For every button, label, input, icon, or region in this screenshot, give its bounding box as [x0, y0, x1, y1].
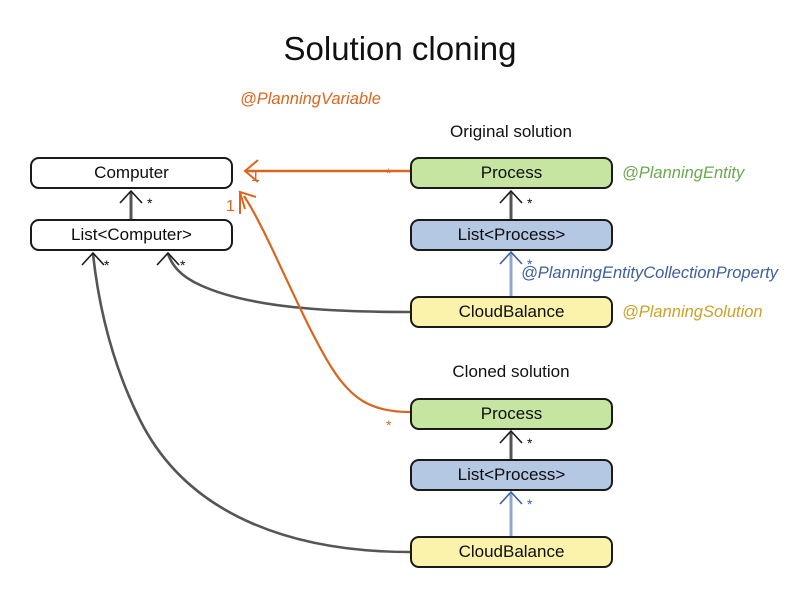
- multiplicity-cloned-cloudbalance-to-listprocess: *: [527, 497, 532, 511]
- class-box-original-process[interactable]: Process: [410, 157, 613, 189]
- multiplicity-listcomputer-left-star: *: [104, 258, 109, 272]
- class-box-list-computer[interactable]: List<Computer>: [30, 219, 233, 251]
- annotation-planning-entity-collection-property: @PlanningEntityCollectionProperty: [521, 264, 778, 283]
- class-box-cloned-cloudbalance[interactable]: CloudBalance: [410, 536, 613, 568]
- diagram-canvas: Solution cloning @PlanningVariable Origi…: [0, 0, 800, 600]
- edge-listcomputer-to-computer: [120, 191, 142, 220]
- diagram-connectors: [0, 0, 800, 600]
- edge-cloned-cloudbalance-to-listprocess: [500, 492, 522, 536]
- multiplicity-computer-listcomputer: *: [147, 196, 152, 210]
- multiplicity-cloned-process-star: *: [386, 418, 391, 432]
- multiplicity-listcomputer-right-star: *: [180, 258, 185, 272]
- edge-original-cloudbalance-to-listcomputer: [157, 253, 410, 312]
- page-title: Solution cloning: [0, 30, 800, 68]
- multiplicity-cloned-process-to-computer: 1: [226, 199, 235, 215]
- multiplicity-original-listprocess-to-process: *: [527, 196, 532, 210]
- multiplicity-original-cloudbalance-to-listprocess: *: [527, 257, 532, 271]
- multiplicity-original-process-to-computer: 1: [251, 169, 260, 185]
- section-label-original: Original solution: [411, 122, 611, 142]
- annotation-planning-entity: @PlanningEntity: [622, 164, 744, 183]
- class-box-computer[interactable]: Computer: [30, 157, 233, 189]
- edge-cloned-cloudbalance-to-listcomputer: [82, 253, 410, 552]
- section-label-cloned: Cloned solution: [411, 362, 611, 382]
- annotation-planning-variable: @PlanningVariable: [240, 90, 381, 109]
- multiplicity-cloned-listprocess-to-process: *: [527, 436, 532, 450]
- edge-original-cloudbalance-to-listprocess: [500, 252, 522, 296]
- edge-cloned-listprocess-to-process: [500, 431, 522, 460]
- annotation-planning-solution: @PlanningSolution: [622, 303, 763, 322]
- class-box-cloned-process[interactable]: Process: [410, 398, 613, 430]
- edge-cloned-process-to-computer: [240, 192, 410, 412]
- multiplicity-original-process-star: *: [386, 166, 391, 180]
- class-box-cloned-list-process[interactable]: List<Process>: [410, 459, 613, 491]
- edge-original-listprocess-to-process: [500, 191, 522, 220]
- class-box-original-list-process[interactable]: List<Process>: [410, 219, 613, 251]
- class-box-original-cloudbalance[interactable]: CloudBalance: [410, 296, 613, 328]
